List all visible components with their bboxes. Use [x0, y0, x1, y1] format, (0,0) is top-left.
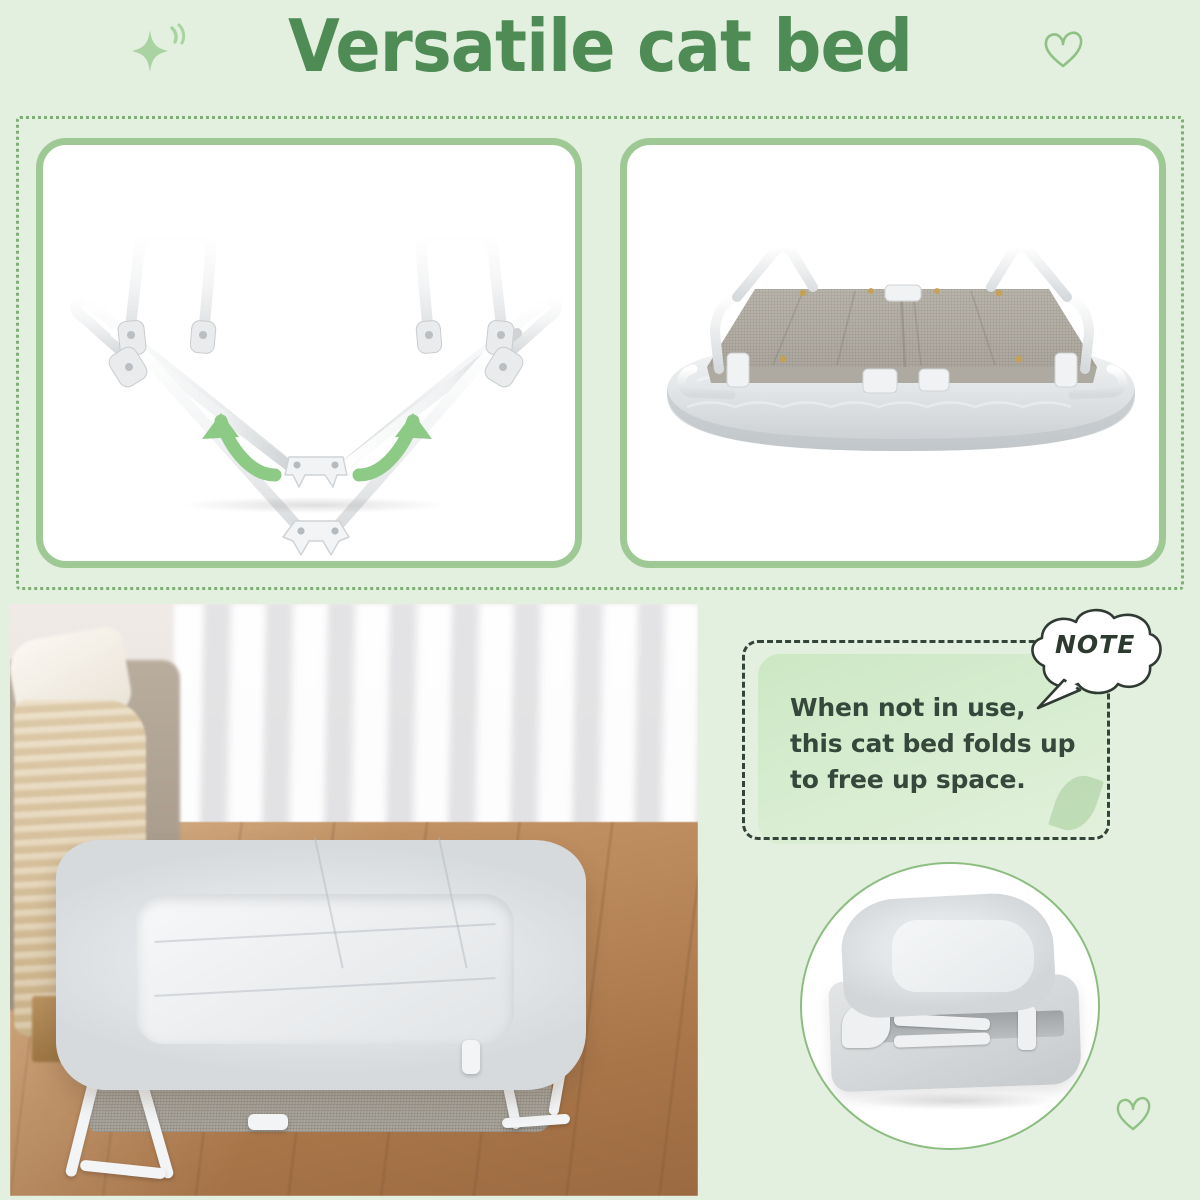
bed-hinge-front: [248, 1114, 288, 1130]
lifestyle-photo: [10, 604, 698, 1196]
heart-outline-icon: [1112, 1092, 1154, 1134]
cat-bed-product: [32, 828, 612, 1188]
folded-drop-shadow: [856, 1092, 1056, 1110]
folded-bed-art: [820, 896, 1082, 1106]
infographic-canvas: Versatile cat bed: [0, 0, 1200, 1200]
panel-folding-frame: [36, 138, 582, 568]
panel-mesh-platform: [620, 138, 1166, 568]
note-badge-label: NOTE: [1055, 630, 1135, 659]
bed-leg-front-left-foot: [80, 1160, 167, 1180]
frame-drop-shadow: [183, 497, 445, 513]
quilted-pad: [136, 894, 514, 1044]
folded-hinge-right: [1018, 1006, 1036, 1050]
bed-hinge-side: [462, 1040, 480, 1074]
folded-quilted-pad: [892, 920, 1034, 992]
panel-folded-bed: [800, 862, 1100, 1150]
mesh-platform-art: [627, 145, 1159, 561]
header-bar: Versatile cat bed: [0, 0, 1200, 108]
folded-bed-circle-frame: [800, 862, 1100, 1150]
folding-frame-art: [43, 145, 575, 561]
heart-outline-icon: [1040, 26, 1086, 72]
page-title: Versatile cat bed: [42, 4, 1158, 88]
